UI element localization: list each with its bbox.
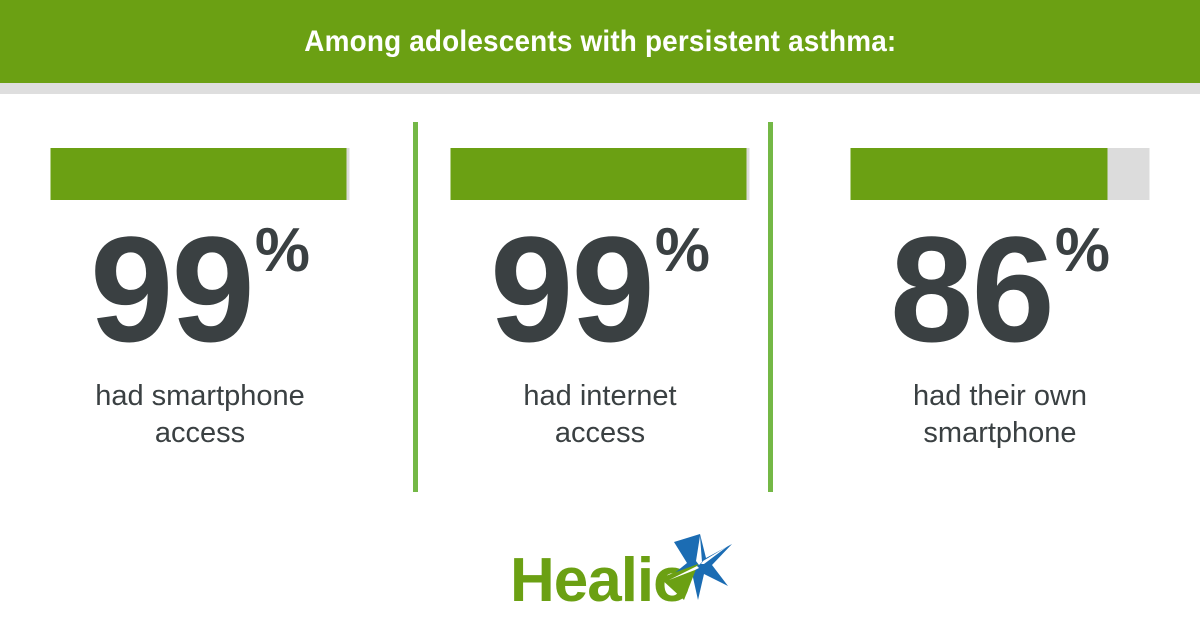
progress-bar-fill	[451, 148, 747, 200]
stat-caption-line2: access	[51, 415, 350, 452]
stat-caption: had internet access	[451, 378, 750, 452]
stat-column-smartphone-access: 99 % had smartphone access	[0, 94, 400, 514]
stat-column-internet-access: 99 % had internet access	[400, 94, 800, 514]
progress-bar-track	[851, 148, 1150, 200]
stat-value-group: 99 %	[451, 214, 750, 364]
percent-sign: %	[255, 220, 310, 282]
stat-caption-line2: smartphone	[851, 415, 1150, 452]
stat-caption: had their own smartphone	[851, 378, 1150, 452]
stat-caption: had smartphone access	[51, 378, 350, 452]
stat-caption-line2: access	[451, 415, 750, 452]
stat-value-group: 86 %	[851, 214, 1150, 364]
progress-bar-track	[51, 148, 350, 200]
stat-number: 99	[90, 214, 253, 364]
percent-sign: %	[1055, 220, 1110, 282]
progress-bar-fill	[51, 148, 347, 200]
page-title: Among adolescents with persistent asthma…	[304, 25, 896, 59]
stats-row: 99 % had smartphone access 99 %	[0, 94, 1200, 514]
stat-number: 86	[890, 214, 1053, 364]
stat-caption-line1: had internet	[451, 378, 750, 415]
stat-number: 99	[490, 214, 653, 364]
stat-column-own-smartphone: 86 % had their own smartphone	[800, 94, 1200, 514]
infographic-root: Among adolescents with persistent asthma…	[0, 0, 1200, 630]
header-banner: Among adolescents with persistent asthma…	[0, 0, 1200, 83]
star-burst-icon	[654, 534, 732, 600]
stat-caption-line1: had their own	[851, 378, 1150, 415]
column-divider-1	[413, 122, 418, 492]
stat-caption-line1: had smartphone	[51, 378, 350, 415]
header-divider-rule	[0, 83, 1200, 94]
stat-value-group: 99 %	[51, 214, 350, 364]
progress-bar-fill	[851, 148, 1108, 200]
percent-sign: %	[655, 220, 710, 282]
column-divider-2	[768, 122, 773, 492]
brand-logo: Healio	[0, 550, 1200, 612]
progress-bar-track	[451, 148, 750, 200]
